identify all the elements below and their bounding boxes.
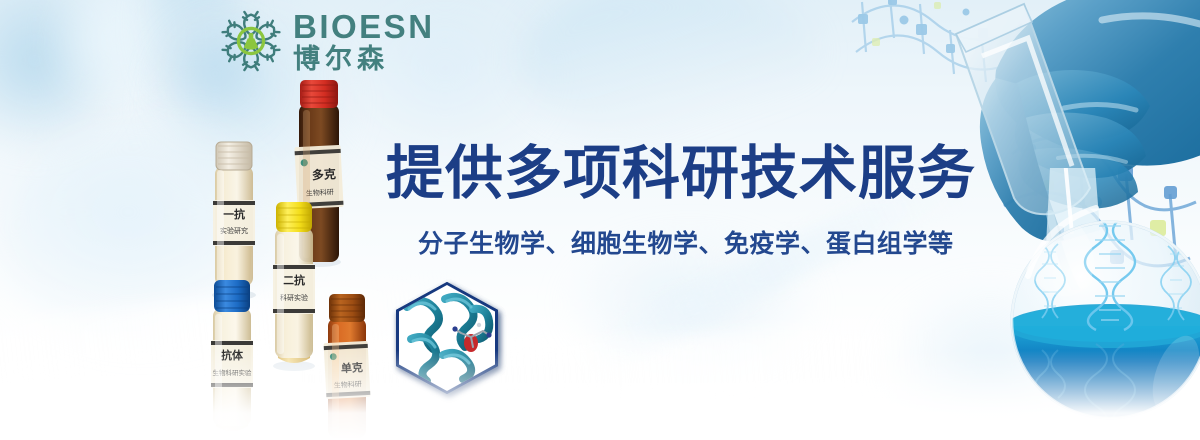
svg-text:科研实验: 科研实验 <box>280 293 308 302</box>
bokeh-blob <box>0 0 110 170</box>
round-flask-blue-liquid-dna <box>1000 168 1200 440</box>
vial-monoclonal: 单克 生物科研 <box>318 292 376 440</box>
vial-secondary-antibody: 二抗 科研实验 <box>266 200 322 372</box>
bokeh-blob <box>520 0 820 140</box>
banner-subheadline: 分子生物学、细胞生物学、免疫学、蛋白组学等 <box>418 224 954 260</box>
bench-reflection-streak <box>298 318 941 432</box>
logo-english-name: BIOESN <box>293 10 435 43</box>
vial-primary-antibody: 一抗 实验研究 <box>206 140 262 300</box>
svg-text:多克: 多克 <box>311 166 336 182</box>
bioesn-hero-banner: 一抗 实验研究 <box>0 0 1200 440</box>
bioesn-dna-flask-emblem-icon <box>218 8 284 74</box>
banner-headline: 提供多项科研技术服务 <box>386 126 976 210</box>
bokeh-blob <box>55 0 175 135</box>
svg-text:实验研究: 实验研究 <box>220 226 248 235</box>
svg-text:一抗: 一抗 <box>223 207 245 221</box>
logo-chinese-name: 博尔森 <box>293 46 435 73</box>
svg-text:二抗: 二抗 <box>283 273 305 287</box>
logo-wordmark: BIOESN 博尔森 <box>293 10 435 73</box>
vial-antibody-blue: 抗体 生物科研实验 <box>204 278 260 440</box>
hexagon-protein-ribbon[interactable] <box>396 282 498 394</box>
svg-text:单克: 单克 <box>341 360 364 375</box>
protein-ribbon-graphic <box>399 285 495 391</box>
svg-text:抗体: 抗体 <box>221 348 244 362</box>
brand-logo[interactable]: BIOESN 博尔森 <box>218 8 435 74</box>
